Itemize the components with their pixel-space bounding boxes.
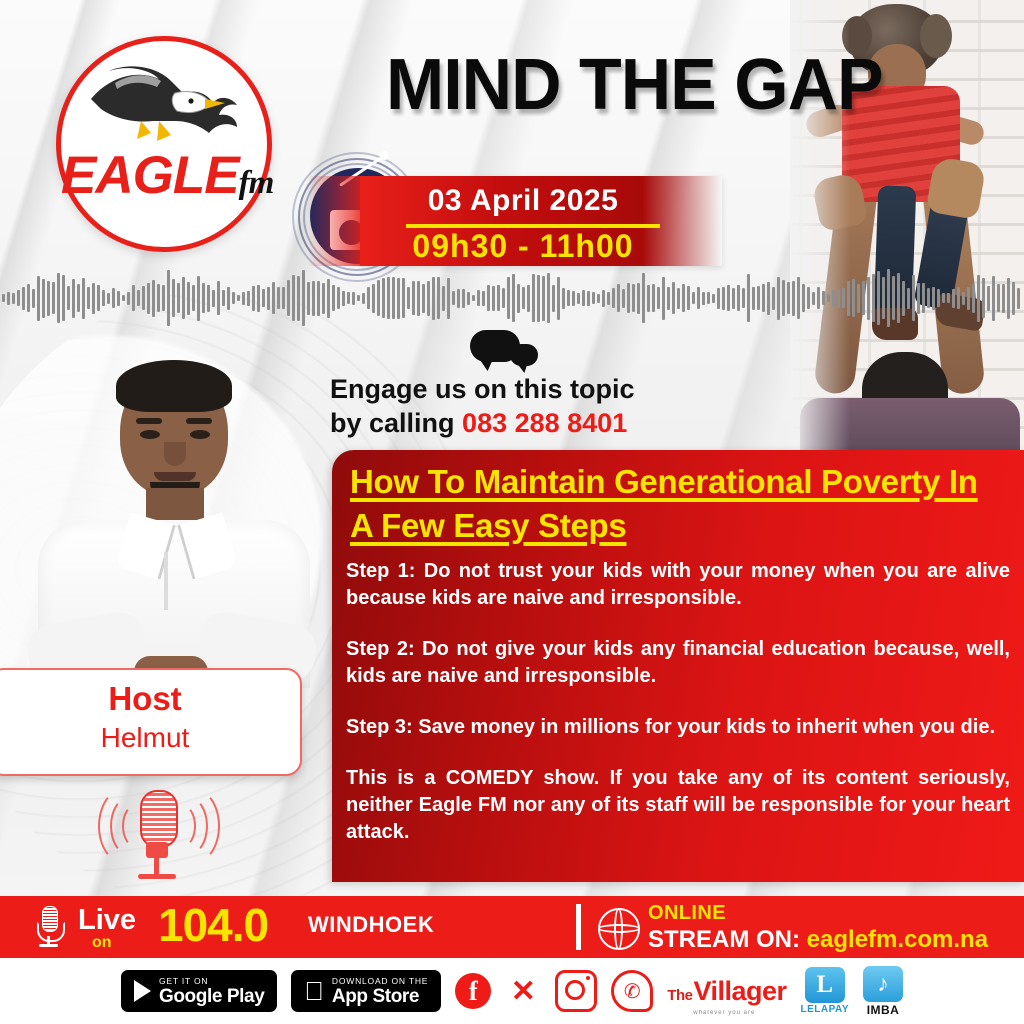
waveform-bar — [272, 282, 275, 314]
waveform-bar — [912, 275, 915, 321]
waveform-bar — [227, 287, 230, 310]
topic-paragraph: Step 2: Do not give your kids any financ… — [346, 636, 1010, 690]
waveform-bar — [502, 288, 505, 308]
waveform-bar — [132, 285, 135, 311]
waveform-bar — [1012, 282, 1015, 315]
whatsapp-icon[interactable]: ✆ — [611, 970, 653, 1012]
waveform-bar — [707, 292, 710, 304]
waveform-bar — [922, 283, 925, 313]
host-role-label: Host — [0, 680, 300, 718]
waveform-bar — [87, 287, 90, 309]
waveform-bar — [77, 284, 80, 312]
waveform-bar — [347, 292, 350, 304]
waveform-bar — [537, 275, 540, 322]
waveform-bar — [887, 269, 890, 327]
waveform-bar — [652, 284, 655, 312]
waveform-bar — [757, 286, 760, 310]
engage-call-prefix: by calling — [330, 408, 462, 438]
on-label: on — [92, 934, 112, 952]
live-label: Live — [78, 904, 136, 937]
station-logo: EAGLEfm — [56, 36, 272, 252]
waveform-bar — [737, 285, 740, 311]
show-date: 03 April 2025 — [360, 184, 686, 218]
waveform-bar — [1007, 278, 1010, 319]
waveform-bar — [987, 286, 990, 311]
waveform-bar — [127, 292, 130, 305]
waveform-bar — [142, 286, 145, 310]
waveform-bar — [492, 286, 495, 311]
waveform-bar — [612, 288, 615, 308]
waveform-bar — [807, 287, 810, 309]
waveform-bar — [257, 285, 260, 312]
online-label: ONLINE — [648, 902, 726, 925]
logo-fm-text: fm — [239, 165, 274, 201]
stream-line: STREAM ON: eaglefm.com.na — [648, 926, 988, 954]
waveform-bar — [637, 283, 640, 314]
host-name: Helmut — [0, 722, 300, 754]
waveform-bar — [507, 277, 510, 319]
waveform-bar — [467, 292, 470, 305]
lelapay-label: LELAPAY — [801, 1004, 850, 1015]
waveform-bar — [597, 294, 600, 303]
waveform-bar — [572, 291, 575, 306]
show-title: MIND THE GAP — [290, 48, 979, 122]
engage-phone[interactable]: 083 288 8401 — [462, 408, 627, 438]
waveform-bar — [2, 294, 5, 302]
waveform-bar — [302, 270, 305, 326]
waveform-bar — [772, 287, 775, 310]
waveform-bar — [12, 293, 15, 304]
waveform-bar — [972, 284, 975, 313]
waveform-bar — [1002, 284, 1005, 313]
waveform-bar — [157, 284, 160, 312]
waveform-bar — [567, 290, 570, 306]
waveform-bar — [82, 278, 85, 319]
waveform-bar — [962, 292, 965, 305]
waveform-bar — [72, 279, 75, 318]
waveform-bar — [907, 288, 910, 309]
waveform-bar — [667, 287, 670, 310]
waveform-bar — [452, 291, 455, 305]
waveform-bar — [57, 273, 60, 323]
waveform-bar — [267, 287, 270, 310]
waveform-bar — [672, 282, 675, 314]
show-time: 09h30 - 11h00 — [360, 228, 686, 265]
waveform-bar — [717, 288, 720, 309]
waveform-bar — [282, 287, 285, 309]
waveform-bar — [547, 273, 550, 323]
waveform-bar — [767, 282, 770, 315]
waveform-bar — [122, 295, 125, 301]
waveform-bar — [517, 284, 520, 313]
globe-icon — [598, 908, 640, 950]
waveform-bar — [582, 290, 585, 306]
waveform-bar — [102, 290, 105, 306]
google-play-main: Google Play — [159, 987, 264, 1007]
waveform-bar — [162, 285, 165, 311]
waveform-bar — [202, 283, 205, 313]
waveform-bar — [562, 288, 565, 309]
waveform-bar — [482, 291, 485, 306]
waveform-bar — [822, 291, 825, 305]
waveform-bar — [112, 288, 115, 308]
waveform-bar — [52, 282, 55, 314]
waveform-bar — [532, 274, 535, 322]
waveform-bar — [312, 281, 315, 316]
waveform-bar — [427, 281, 430, 316]
footer-bar: GET IT ON Google Play  Download on the … — [0, 958, 1024, 1024]
waveform-bar — [542, 276, 545, 321]
waveform-bar — [332, 285, 335, 311]
waveform-bar — [62, 275, 65, 321]
waveform-bar — [687, 286, 690, 310]
waveform-bar — [117, 291, 120, 306]
waveform-bar — [682, 284, 685, 312]
lelapay-logo[interactable]: L LELAPAY — [801, 967, 850, 1015]
host-card: Host Helmut — [0, 668, 302, 776]
waveform-bar — [177, 283, 180, 313]
waveform-bar — [422, 284, 425, 313]
waveform-bar — [147, 283, 150, 314]
waveform-bar — [322, 283, 325, 314]
waveform-bar — [197, 276, 200, 321]
waveform-bar — [727, 285, 730, 311]
waveform-bar — [817, 287, 820, 309]
waveform-bar — [352, 292, 355, 305]
waveform-bar — [752, 287, 755, 310]
waveform-bar — [847, 281, 850, 316]
waveform-bar — [402, 278, 405, 318]
waveform-bar — [722, 287, 725, 310]
waveform-bar — [207, 285, 210, 312]
google-play-badge[interactable]: GET IT ON Google Play — [121, 970, 277, 1012]
waveform-bar — [232, 292, 235, 304]
waveform-bar — [657, 287, 660, 309]
waveform-bar — [382, 278, 385, 318]
waveform-bar — [647, 285, 650, 312]
audio-waveform — [0, 266, 1024, 330]
waveform-bar — [337, 287, 340, 309]
waveform-bar — [397, 278, 400, 319]
waveform-bar — [37, 276, 40, 321]
villager-tagline: whatever you are — [693, 1010, 755, 1016]
waveform-bar — [702, 292, 705, 305]
stream-url[interactable]: eaglefm.com.na — [807, 926, 988, 953]
mic-icon — [36, 906, 62, 948]
waveform-bar — [762, 284, 765, 312]
waveform-bar — [837, 289, 840, 308]
waveform-bar — [957, 287, 960, 309]
waveform-bar — [27, 284, 30, 312]
engage-block: Engage us on this topic by calling 083 2… — [330, 372, 690, 440]
waveform-bar — [442, 286, 445, 311]
waveform-bar — [607, 292, 610, 305]
waveform-bar — [307, 282, 310, 315]
waveform-bar — [917, 283, 920, 314]
waveform-bar — [622, 289, 625, 308]
waveform-bar — [662, 277, 665, 320]
waveform-bar — [377, 280, 380, 316]
waveform-bar — [852, 279, 855, 317]
waveform-bar — [32, 289, 35, 308]
waveform-bar — [952, 289, 955, 308]
waveform-bar — [882, 277, 885, 319]
imba-mark: ♪ — [863, 966, 903, 1002]
waveform-bar — [697, 287, 700, 309]
engage-line-2: by calling 083 288 8401 — [330, 406, 690, 440]
waveform-bar — [897, 273, 900, 323]
waveform-bar — [712, 294, 715, 303]
waveform-bar — [7, 292, 10, 305]
waveform-bar — [417, 281, 420, 316]
instagram-icon[interactable] — [555, 970, 597, 1012]
waveform-bar — [192, 285, 195, 311]
waveform-bar — [842, 288, 845, 308]
broadcast-bar: Live on 104.0 WINDHOEK ONLINE STREAM ON:… — [0, 896, 1024, 958]
topic-paragraph: Step 3: Save money in millions for your … — [346, 714, 1010, 741]
waveform-bar — [137, 290, 140, 306]
waveform-bar — [787, 282, 790, 314]
waveform-bar — [932, 287, 935, 310]
waveform-bar — [742, 288, 745, 308]
waveform-bar — [997, 284, 1000, 312]
waveform-bar — [872, 274, 875, 322]
topic-panel: How To Maintain Generational Poverty In … — [332, 450, 1024, 882]
waveform-bar — [782, 280, 785, 316]
waveform-bar — [857, 284, 860, 313]
waveform-bar — [287, 280, 290, 316]
waveform-bar — [472, 295, 475, 301]
waveform-bar — [182, 277, 185, 319]
waveform-bar — [992, 276, 995, 321]
google-play-icon — [134, 980, 151, 1002]
waveform-bar — [247, 291, 250, 306]
waveform-bar — [297, 276, 300, 321]
waveform-bar — [107, 293, 110, 304]
apple-icon:  — [304, 978, 324, 1004]
waveform-bar — [902, 281, 905, 316]
waveform-bar — [832, 290, 835, 307]
waveform-bar — [217, 281, 220, 315]
topic-paragraph: Step 1: Do not trust your kids with your… — [346, 558, 1010, 612]
waveform-bar — [47, 281, 50, 316]
waveform-bar — [342, 291, 345, 306]
app-store-small: Download on the — [332, 976, 428, 987]
city-label: WINDHOEK — [308, 912, 434, 938]
waveform-bar — [222, 290, 225, 306]
waveform-bar — [457, 289, 460, 308]
logo-wordmark: EAGLEfm — [61, 145, 267, 206]
waveform-bar — [357, 295, 360, 301]
waveform-bar — [447, 278, 450, 319]
waveform-bar — [977, 275, 980, 322]
waveform-bar — [812, 292, 815, 305]
waveform-bar — [862, 281, 865, 315]
facebook-icon[interactable]: f — [455, 973, 491, 1009]
waveform-bar — [262, 289, 265, 307]
villager-main: Villager — [693, 976, 786, 1007]
waveform-bar — [412, 281, 415, 315]
waveform-bar — [292, 275, 295, 321]
engage-line-1: Engage us on this topic — [330, 372, 690, 406]
waveform-bar — [522, 287, 525, 309]
waveform-bar — [212, 290, 215, 307]
waveform-bar — [587, 291, 590, 306]
waveform-bar — [477, 290, 480, 306]
frequency-value: 104.0 — [158, 898, 268, 952]
waveform-bar — [167, 270, 170, 326]
waveform-bar — [967, 287, 970, 310]
topic-body: Step 1: Do not trust your kids with your… — [346, 558, 1010, 846]
waveform-bar — [372, 284, 375, 313]
waveform-bar — [317, 281, 320, 316]
waveform-bar — [627, 283, 630, 313]
x-twitter-icon[interactable]: ✕ — [505, 973, 541, 1009]
waveform-bar — [677, 288, 680, 309]
waveform-bar — [67, 286, 70, 310]
imba-logo[interactable]: ♪ IMBA — [863, 966, 903, 1017]
waveform-bar — [867, 277, 870, 320]
lelapay-mark: L — [805, 967, 845, 1003]
waveform-bar — [512, 274, 515, 322]
app-store-main: App Store — [332, 987, 428, 1007]
schedule-banner: 03 April 2025 09h30 - 11h00 — [360, 176, 722, 266]
waveform-bar — [362, 293, 365, 304]
waveform-bar — [487, 285, 490, 311]
waveform-bar — [692, 292, 695, 304]
villager-logo[interactable]: TheVillager whatever you are — [667, 976, 786, 1007]
waveform-bar — [172, 279, 175, 317]
waveform-bar — [277, 287, 280, 309]
waveform-bar — [802, 284, 805, 312]
waveform-bar — [437, 277, 440, 319]
waveform-bar — [642, 273, 645, 323]
waveform-bar — [617, 284, 620, 312]
app-store-badge[interactable]:  Download on the App Store — [291, 970, 441, 1012]
poster: EAGLEfm MIND THE GAP 03 April 2025 09h30… — [0, 0, 1024, 1024]
waveform-bar — [877, 271, 880, 325]
waveform-bar — [732, 288, 735, 309]
speech-bubble-icon — [470, 330, 536, 370]
waveform-bar — [387, 277, 390, 319]
microphone-icon — [92, 786, 222, 882]
waveform-bar — [252, 286, 255, 311]
waveform-bar — [942, 293, 945, 303]
waveform-bar — [552, 285, 555, 312]
waveform-bar — [632, 284, 635, 312]
waveform-bar — [42, 279, 45, 318]
google-play-small: GET IT ON — [159, 976, 264, 987]
villager-the: The — [667, 987, 692, 1004]
waveform-bar — [92, 283, 95, 314]
waveform-bar — [827, 294, 830, 302]
waveform-bar — [592, 292, 595, 304]
waveform-bar — [22, 287, 25, 310]
topic-paragraph: This is a COMEDY show. If you take any o… — [346, 765, 1010, 846]
waveform-bar — [237, 295, 240, 301]
waveform-bar — [462, 289, 465, 308]
waveform-bar — [892, 276, 895, 320]
waveform-bar — [1017, 288, 1020, 309]
host-portrait — [18, 356, 320, 688]
bar-divider — [576, 904, 581, 950]
waveform-bar — [367, 287, 370, 309]
waveform-bar — [187, 282, 190, 315]
waveform-bar — [777, 277, 780, 320]
waveform-bar — [327, 279, 330, 318]
waveform-bar — [407, 287, 410, 309]
waveform-bar — [797, 277, 800, 319]
waveform-bar — [242, 292, 245, 305]
waveform-bar — [497, 285, 500, 311]
imba-label: IMBA — [867, 1003, 900, 1017]
waveform-bar — [17, 290, 20, 306]
waveform-bar — [577, 293, 580, 304]
waveform-bar — [792, 281, 795, 316]
waveform-bar — [927, 288, 930, 308]
stream-label: STREAM ON: — [648, 926, 800, 953]
waveform-bar — [947, 293, 950, 303]
waveform-bar — [527, 285, 530, 312]
waveform-bar — [152, 280, 155, 317]
waveform-bar — [432, 277, 435, 320]
topic-title: How To Maintain Generational Poverty In … — [350, 460, 1006, 548]
waveform-bar — [97, 285, 100, 311]
logo-eagle-text: EAGLE — [61, 146, 239, 205]
waveform-bar — [602, 290, 605, 307]
waveform-bar — [747, 274, 750, 322]
waveform-bar — [937, 289, 940, 307]
waveform-bar — [557, 277, 560, 320]
waveform-bar — [982, 278, 985, 318]
waveform-bar — [392, 277, 395, 319]
